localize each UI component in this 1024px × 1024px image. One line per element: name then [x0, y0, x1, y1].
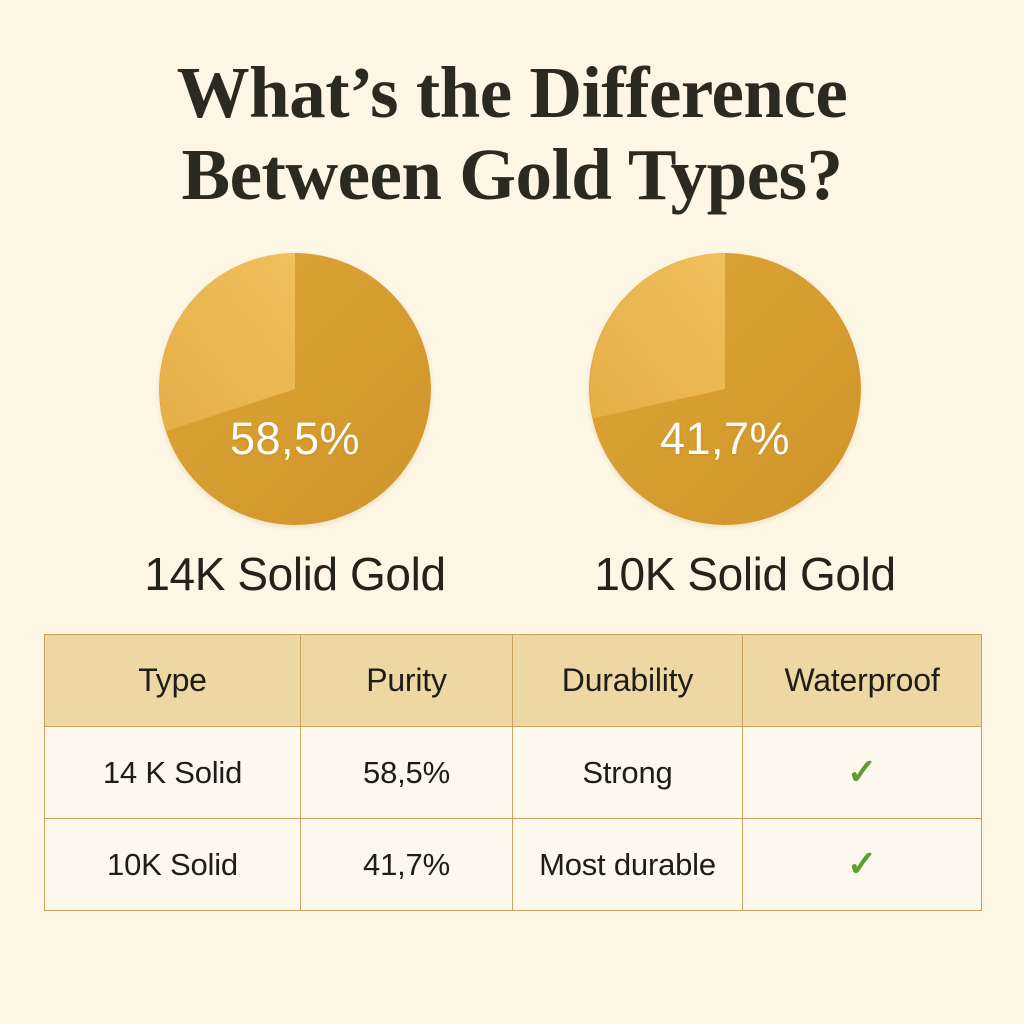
table-row: 10K Solid 41,7% Most durable ✓	[45, 819, 982, 911]
cell-type: 14 K Solid	[45, 727, 301, 819]
pie-chart-group: 58,5%	[0, 253, 1024, 533]
pie-value-10k: 41,7%	[589, 413, 861, 465]
cell-durability: Strong	[513, 727, 743, 819]
column-header-type: Type	[45, 635, 301, 727]
pie-chart-14k: 58,5%	[159, 253, 431, 525]
cell-purity: 41,7%	[301, 819, 513, 911]
comparison-table: Type Purity Durability Waterproof 14 K S…	[44, 634, 982, 911]
table-header: Type Purity Durability Waterproof	[45, 635, 982, 727]
pie-chart-10k: 41,7%	[589, 253, 861, 525]
cell-waterproof: ✓	[743, 819, 982, 911]
pie-svg-10k	[589, 253, 861, 525]
cell-type: 10K Solid	[45, 819, 301, 911]
table-row: 14 K Solid 58,5% Strong ✓	[45, 727, 982, 819]
pie-caption-10k: 10K Solid Gold	[505, 547, 985, 601]
pie-caption-14k: 14K Solid Gold	[55, 547, 535, 601]
column-header-purity: Purity	[301, 635, 513, 727]
cell-purity: 58,5%	[301, 727, 513, 819]
cell-durability: Most durable	[513, 819, 743, 911]
column-header-durability: Durability	[513, 635, 743, 727]
page-title: What’s the Difference Between Gold Types…	[0, 52, 1024, 216]
page-title-line-2: Between Gold Types?	[0, 134, 1024, 216]
infographic-canvas: What’s the Difference Between Gold Types…	[0, 0, 1024, 1024]
page-title-line-1: What’s the Difference	[0, 52, 1024, 134]
checkmark-icon: ✓	[847, 846, 877, 882]
table-header-row: Type Purity Durability Waterproof	[45, 635, 982, 727]
column-header-waterproof: Waterproof	[743, 635, 982, 727]
pie-graphic-14k	[159, 253, 431, 525]
pie-value-14k: 58,5%	[159, 413, 431, 465]
table-body: 14 K Solid 58,5% Strong ✓ 10K Solid 41,7…	[45, 727, 982, 911]
checkmark-icon: ✓	[847, 754, 877, 790]
pie-graphic-10k	[589, 253, 861, 525]
cell-waterproof: ✓	[743, 727, 982, 819]
pie-svg-14k	[159, 253, 431, 525]
pie-caption-group: 14K Solid Gold 10K Solid Gold	[0, 547, 1024, 609]
